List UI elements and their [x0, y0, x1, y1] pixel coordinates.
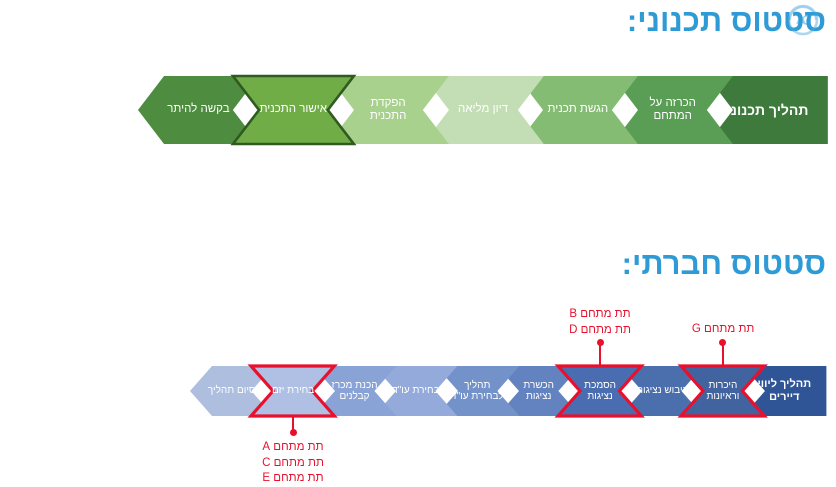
planning-step-label: הגשת תכנית — [542, 103, 615, 116]
annotation-subcomplex-ace-marker — [290, 429, 297, 436]
annotation-subcomplex-bd-marker — [597, 339, 604, 346]
social-status-title: סטטוס חברתי: — [622, 246, 826, 282]
annotation-subcomplex-g: תת מתחם G — [692, 322, 754, 338]
annotation-subcomplex-bd-line: תת מתחם B — [569, 308, 630, 320]
annotation-subcomplex-bd: תת מתחם Bתת מתחם D — [569, 307, 631, 338]
annotation-subcomplex-ace-line: תת מתחם A — [262, 441, 323, 453]
social-step-4[interactable]: הסמכתנציגות — [558, 366, 641, 416]
planning-process-flow: תהליך תכנוניהכרזה עלהמתחםהגשת תכניתדיון … — [8, 76, 828, 144]
annotation-subcomplex-g-line: תת מתחם G — [692, 323, 754, 335]
social-step-9[interactable]: בחירת יזם — [251, 366, 334, 416]
annotation-subcomplex-ace-line: תת מתחם E — [262, 472, 323, 484]
planning-step-label: תהליך תכנוני — [721, 102, 815, 118]
annotation-subcomplex-g-marker — [719, 339, 726, 346]
planning-step-label: אישור התכנית — [254, 103, 333, 116]
planning-step-label: בקשה להיתר — [161, 103, 235, 116]
planning-step-label: דיון מליאה — [452, 103, 514, 116]
social-step-2[interactable]: היכרותוראיונות — [681, 366, 764, 416]
slide-canvas: סטטוס תכנוני: תהליך תכנוניהכרזה עלהמתחםה… — [0, 0, 836, 480]
planning-step-label: הכרזה עלהמתחם — [643, 97, 701, 123]
annotation-subcomplex-bd-line: תת מתחם D — [569, 324, 631, 336]
planning-step-6[interactable]: אישור התכנית — [233, 76, 354, 144]
planning-step-label: הפקדתהתכנית — [364, 97, 412, 123]
planning-status-title: סטטוס תכנוני: — [627, 3, 826, 39]
social-step-label: היכרותוראיונות — [700, 380, 745, 403]
social-step-label: בחירת יזם — [266, 385, 320, 397]
social-step-label: בחירת עו"ד — [386, 385, 445, 397]
annotation-subcomplex-ace-line: תת מתחם C — [262, 457, 324, 469]
social-step-label: הסמכתנציגות — [578, 380, 622, 403]
social-step-label: הכשרתנציגות — [517, 380, 560, 403]
social-process-flow: תהליך ליווי דייריםהיכרותוראיונותגיבוש נצ… — [14, 366, 826, 416]
social-step-label: תהליךלבחירת עו"ד — [445, 380, 510, 403]
